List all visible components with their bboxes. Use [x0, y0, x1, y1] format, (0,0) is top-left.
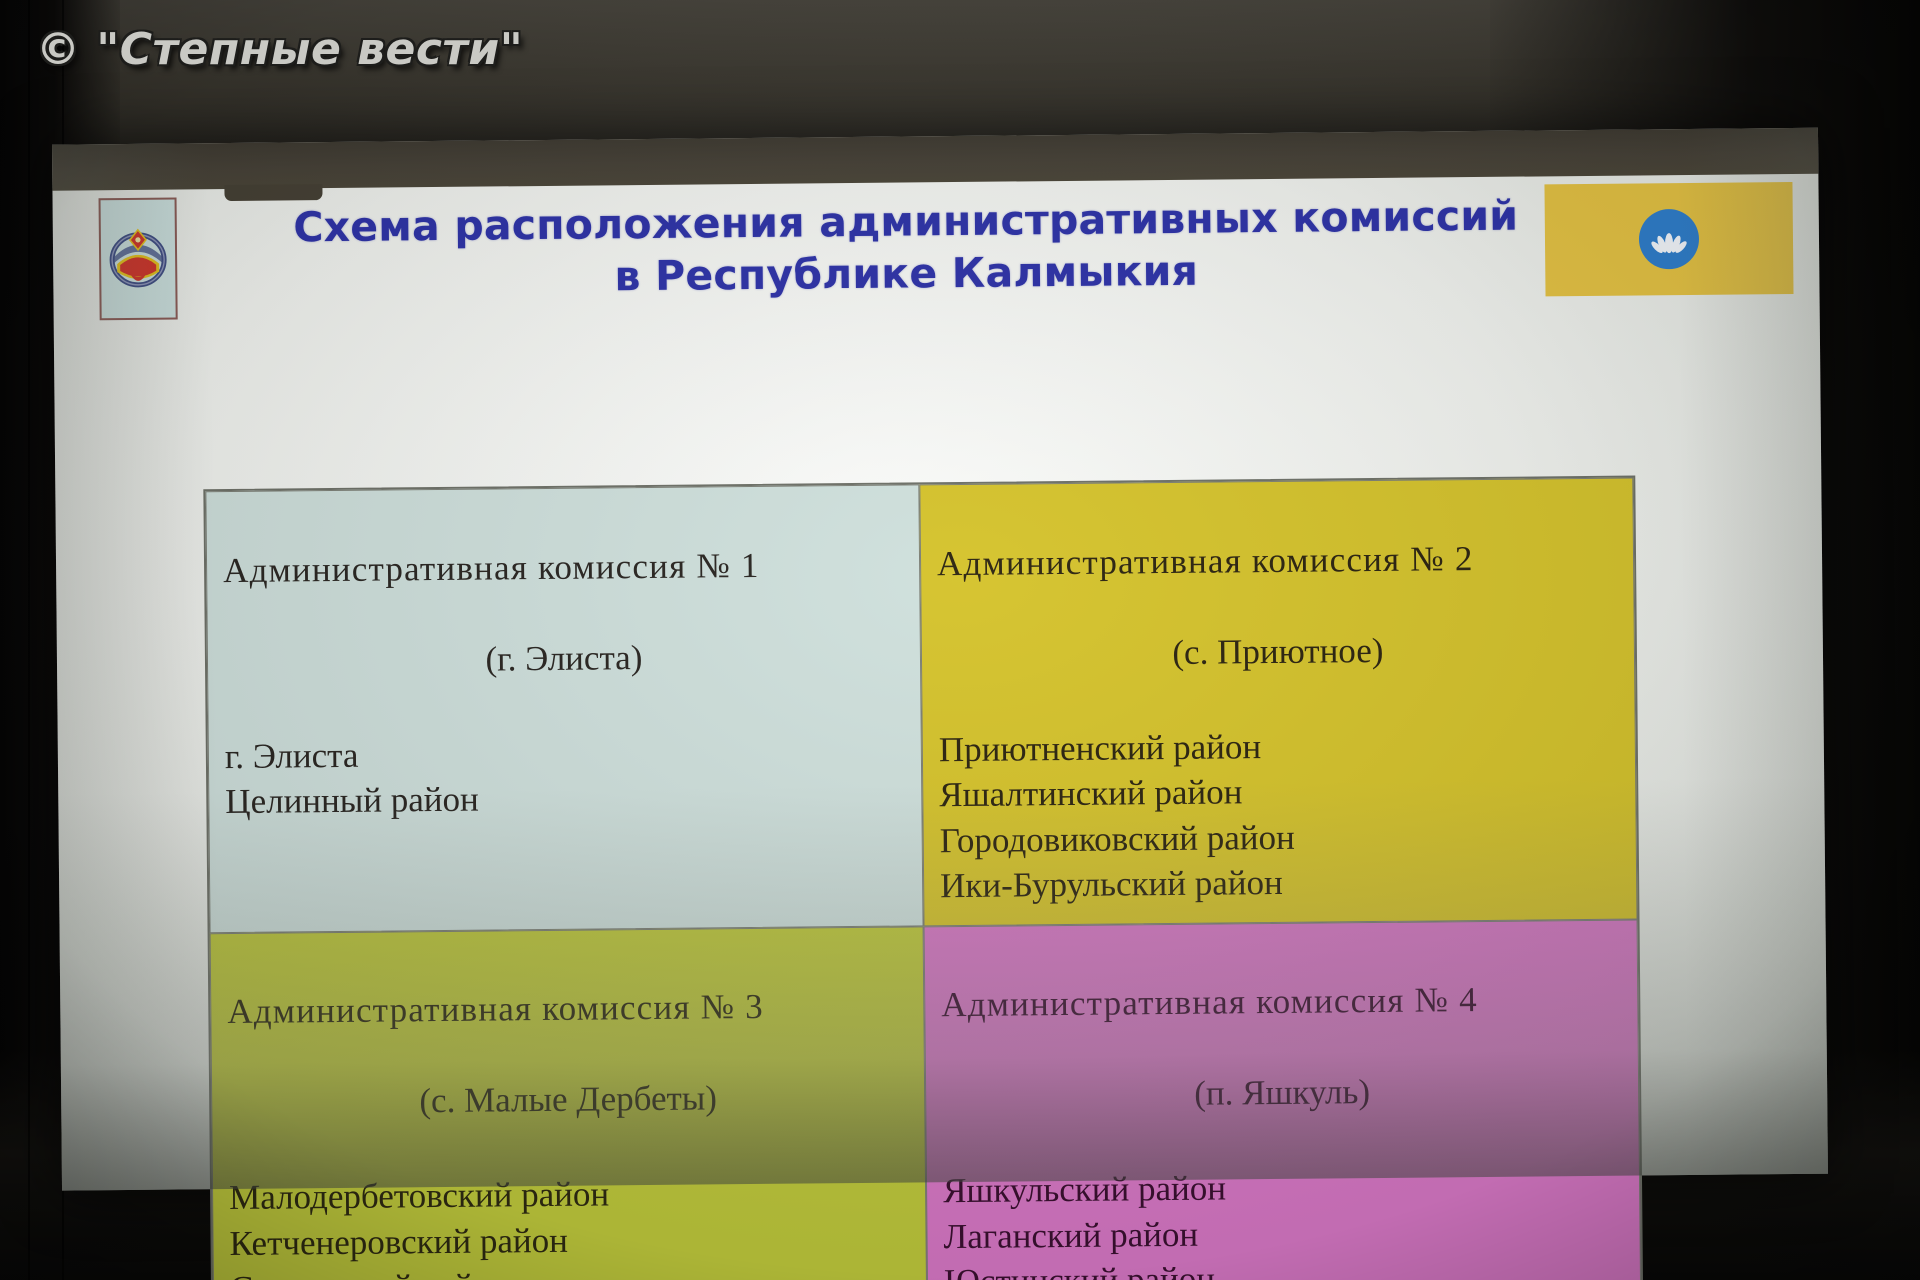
cell-heading-sub: (с. Малые Дербеты) — [228, 1074, 908, 1126]
cell-heading: Административная комиссия № 3 (с. Малые … — [227, 937, 909, 1171]
wall-seam — [28, 0, 30, 1280]
cell-heading-sub: (с. Приютное) — [938, 625, 1618, 677]
cell-heading-main: Административная комиссия № 2 — [937, 534, 1617, 586]
flag-of-kalmykia — [1544, 182, 1793, 296]
cell-heading-main: Административная комиссия № 1 — [223, 541, 903, 593]
cell-heading-main: Административная комиссия № 4 — [941, 976, 1621, 1028]
list-item: Малодербетовский район — [229, 1169, 909, 1221]
list-item: Лаганский район — [943, 1207, 1623, 1259]
title-line-2: в Республике Калмыкия — [281, 242, 1531, 306]
cell-heading-main: Административная комиссия № 3 — [227, 983, 907, 1035]
table-cell-commission-4: Административная комиссия № 4 (п. Яшкуль… — [924, 919, 1642, 1280]
projection-screen: Схема расположения административных коми… — [52, 128, 1828, 1191]
watermark: © "Степные вести" — [36, 24, 523, 75]
cell-heading: Административная комиссия № 4 (п. Яшкуль… — [941, 930, 1623, 1164]
district-list: Приютненский район Яшалтинский район Гор… — [939, 720, 1621, 909]
slide-header: Схема расположения административных коми… — [90, 174, 1801, 340]
cell-heading-sub: (п. Яшкуль) — [942, 1067, 1622, 1119]
coat-of-arms-of-kalmykia-icon — [107, 224, 170, 299]
list-item: Яшалтинский район — [939, 766, 1619, 818]
commissions-table: Административная комиссия № 1 (г. Элиста… — [203, 476, 1643, 1280]
district-list: Яшкульский район Лаганский район Юстинск… — [943, 1162, 1625, 1280]
list-item: Приютненский район — [939, 720, 1619, 772]
district-list: Малодербетовский район Кетченеровский ра… — [229, 1169, 911, 1280]
cell-heading-sub: (г. Элиста) — [224, 632, 904, 684]
list-item: Ики-Бурульский район — [940, 857, 1620, 909]
district-list: г. Элиста Целинный район — [225, 727, 906, 825]
lotus-icon — [1649, 219, 1689, 259]
table-cell-commission-2: Административная комиссия № 2 (с. Приютн… — [919, 478, 1637, 926]
table-cell-commission-3: Административная комиссия № 3 (с. Малые … — [210, 926, 928, 1280]
page-title: Схема расположения административных коми… — [281, 191, 1532, 306]
table-cell-commission-1: Административная комиссия № 1 (г. Элиста… — [205, 484, 923, 932]
lotus-emblem-icon — [1639, 209, 1700, 270]
list-item: г. Элиста — [225, 727, 905, 779]
list-item: Городовиковский район — [940, 811, 1620, 863]
list-item: Кетченеровский район — [229, 1214, 909, 1266]
list-item: Яшкульский район — [943, 1162, 1623, 1214]
title-line-1: Схема расположения административных коми… — [293, 192, 1518, 252]
slide-content: Схема расположения административных коми… — [90, 174, 1810, 1190]
photo-of-projected-slide: Схема расположения административных коми… — [0, 0, 1920, 1280]
coat-of-arms-frame — [99, 198, 178, 321]
cell-heading: Административная комиссия № 1 (г. Элиста… — [222, 496, 904, 730]
list-item: Целинный район — [225, 773, 905, 825]
cell-heading: Административная комиссия № 2 (с. Приютн… — [936, 489, 1618, 723]
